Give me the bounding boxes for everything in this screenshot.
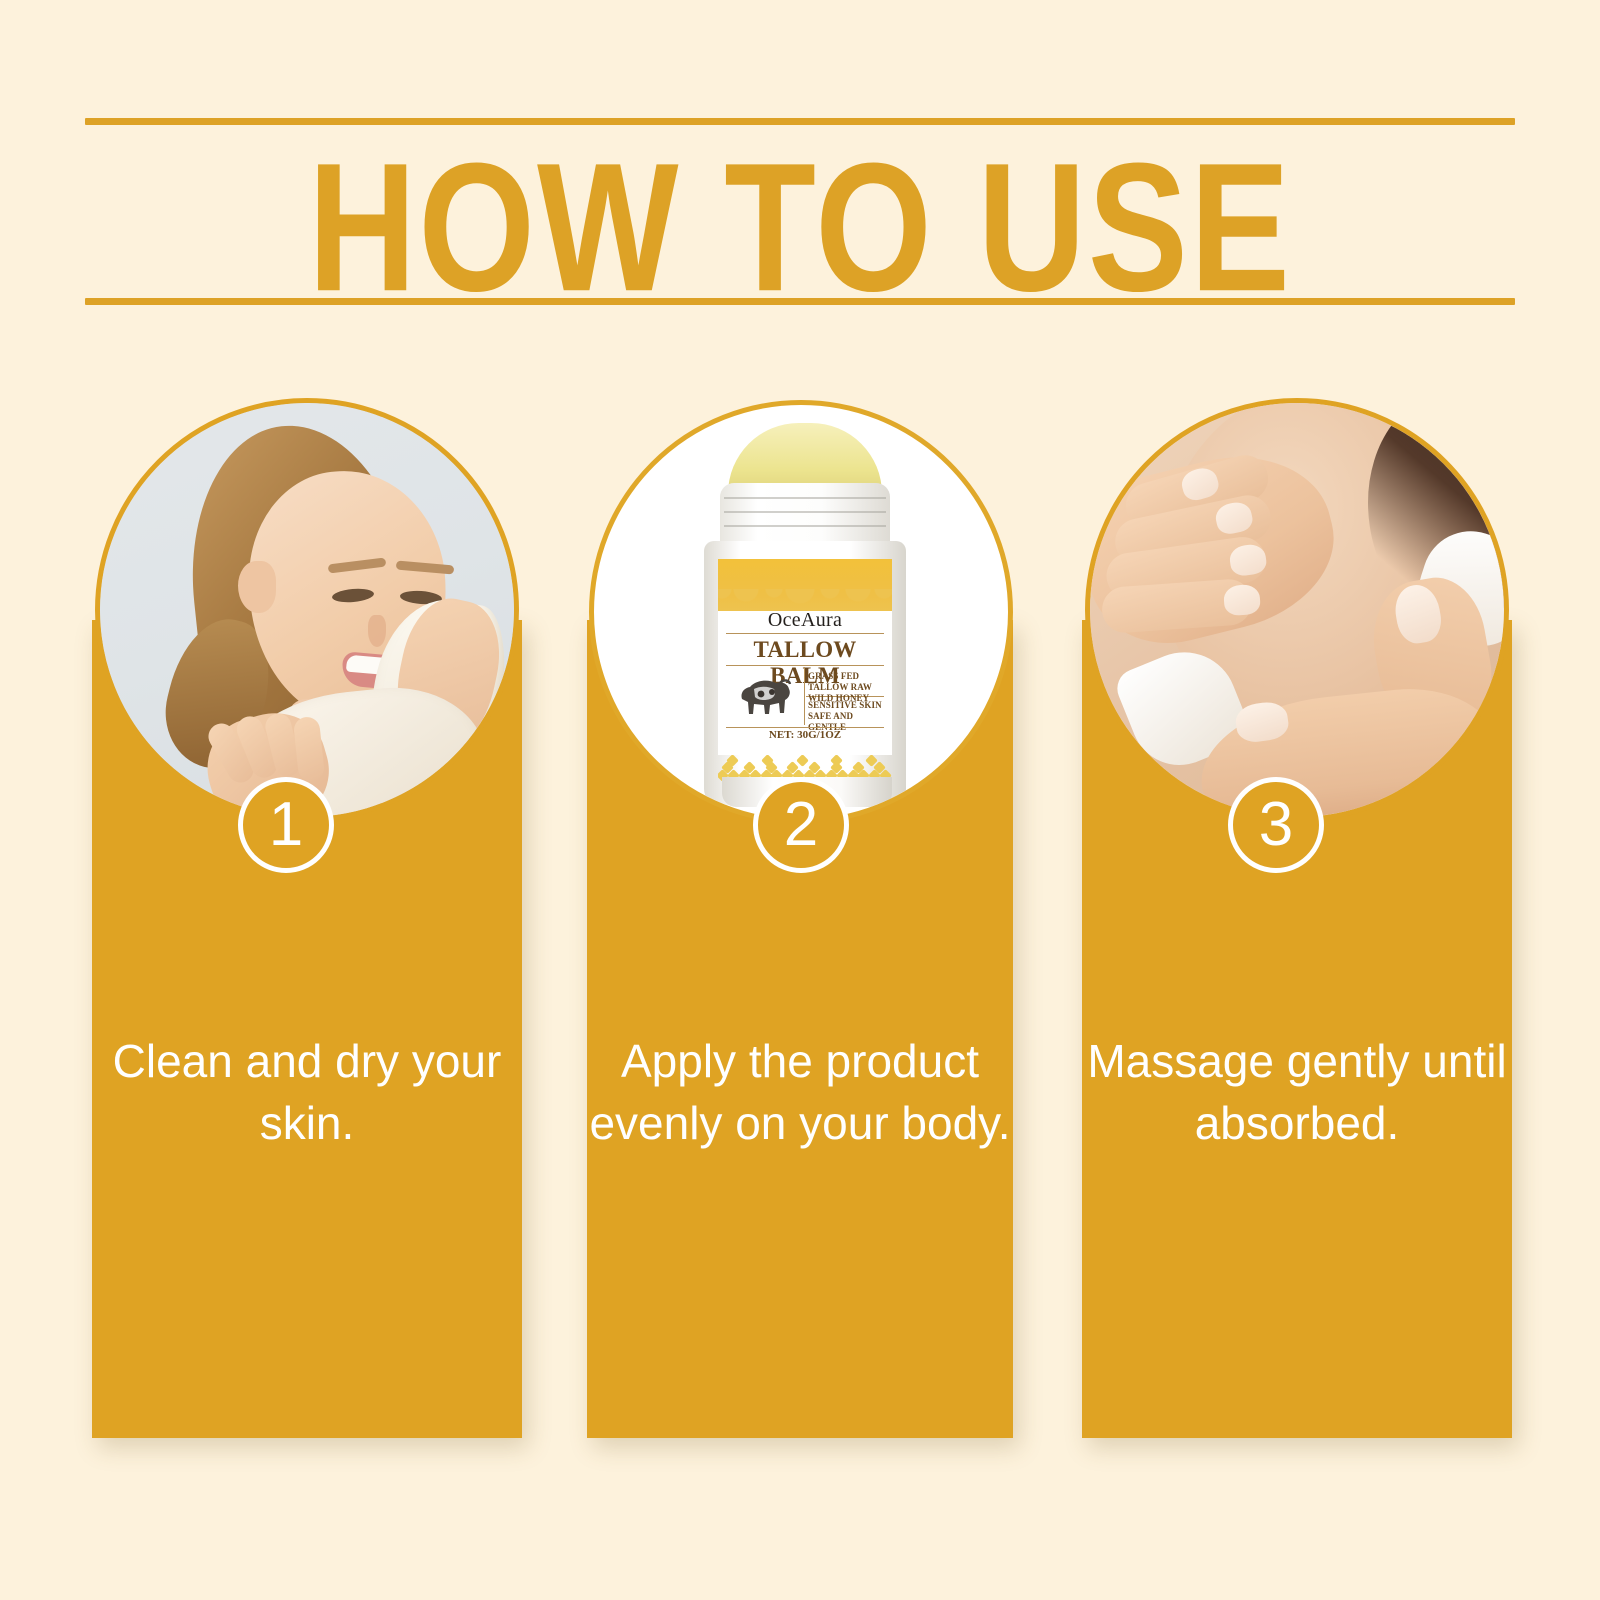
photo-product-stick: OceAura TALLOW BALM bbox=[594, 405, 1008, 819]
step-image-2: OceAura TALLOW BALM bbox=[589, 400, 1013, 824]
fingernail-4 bbox=[1223, 584, 1261, 616]
step-image-1 bbox=[95, 398, 519, 822]
honey-drip-graphic bbox=[718, 559, 892, 611]
photo-massaging-skin bbox=[1090, 403, 1504, 817]
product-tube: OceAura TALLOW BALM bbox=[698, 423, 912, 805]
step-number-badge-2: 2 bbox=[753, 777, 849, 873]
steps-container: OceAura TALLOW BALM bbox=[0, 0, 1600, 1600]
ear-shape bbox=[238, 561, 276, 613]
label-vertical-divider bbox=[804, 667, 805, 725]
product-body: OceAura TALLOW BALM bbox=[704, 541, 906, 805]
label-divider-3 bbox=[726, 727, 884, 728]
step-caption-1: Clean and dry your skin. bbox=[92, 1030, 522, 1154]
product-net-weight: NET: 30G/1OZ bbox=[718, 729, 892, 741]
label-divider-1 bbox=[726, 633, 884, 634]
cow-icon bbox=[734, 669, 796, 721]
product-label: OceAura TALLOW BALM bbox=[718, 559, 892, 755]
label-divider-2 bbox=[726, 665, 884, 666]
how-to-use-infographic: HOW TO USE bbox=[0, 0, 1600, 1600]
photo-woman-drying-face bbox=[100, 403, 514, 817]
product-brand: OceAura bbox=[718, 609, 892, 632]
step-caption-3: Massage gently until absorbed. bbox=[1082, 1030, 1512, 1154]
step-image-3 bbox=[1085, 398, 1509, 822]
step-number-badge-1: 1 bbox=[238, 777, 334, 873]
step-caption-2: Apply the product evenly on your body. bbox=[587, 1030, 1013, 1154]
nose-shape bbox=[368, 615, 386, 647]
step-number-badge-3: 3 bbox=[1228, 777, 1324, 873]
